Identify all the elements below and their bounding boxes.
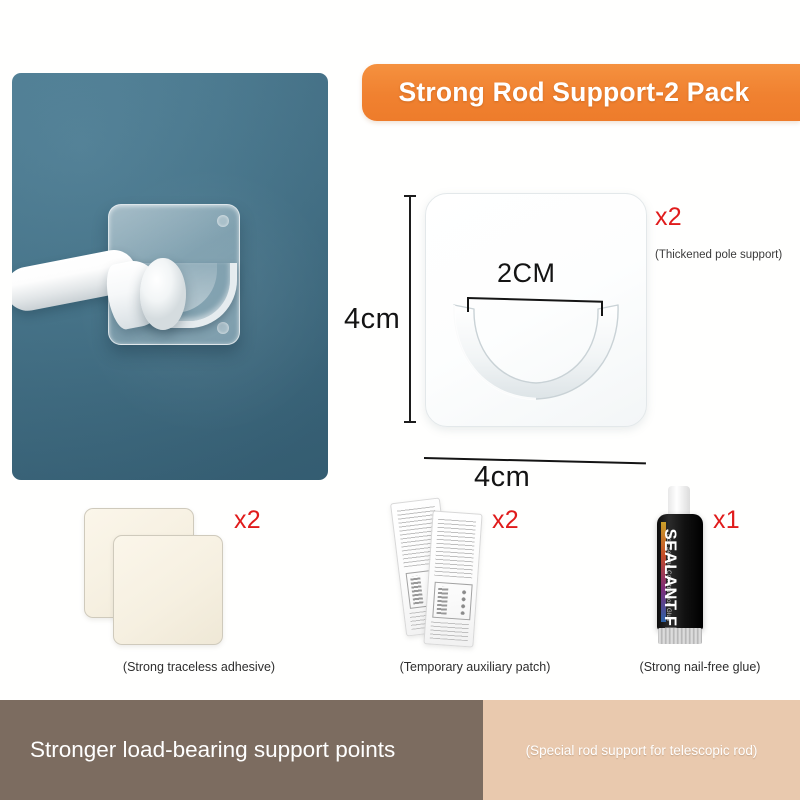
tube-crimp (658, 628, 702, 644)
footer-note-panel: (Special rod support for telescopic rod) (483, 700, 800, 800)
dimension-tick (601, 301, 603, 316)
patch-caption: (Temporary auxiliary patch) (350, 660, 600, 674)
adhesive-pad (113, 535, 223, 645)
footer-headline: Stronger load-bearing support points (0, 737, 395, 763)
patch-diagram (432, 582, 472, 621)
dimension-bar (424, 457, 646, 465)
footer: Stronger load-bearing support points (Sp… (0, 700, 800, 800)
lifestyle-photo (12, 73, 328, 480)
glue-qty-badge: x1 (713, 506, 740, 535)
bracket-caption: (Thickened pole support) (655, 249, 782, 261)
u-cradle-illustration (448, 301, 624, 403)
bracket-qty-badge: x2 (655, 203, 682, 232)
banner-title: Strong Rod Support-2 Pack (362, 64, 786, 121)
auxiliary-patch (423, 510, 482, 647)
footer-headline-panel: Stronger load-bearing support points (0, 700, 483, 800)
sealant-tube: Eco Sealing Construction Glue SEALANT FI… (657, 486, 703, 644)
height-dimension-label: 4cm (344, 303, 400, 336)
patch-qty-badge: x2 (492, 506, 519, 535)
title-banner: Strong Rod Support-2 Pack (362, 64, 800, 121)
patch-print-text (430, 621, 469, 642)
dimension-tick (467, 297, 469, 312)
tube-body: Eco Sealing Construction Glue SEALANT FI… (657, 514, 703, 630)
dimension-bar (467, 297, 603, 303)
width-dimension-line (424, 455, 646, 467)
width-dimension-label: 4cm (474, 461, 530, 494)
adhesive-caption: (Strong traceless adhesive) (84, 660, 314, 674)
glue-caption: (Strong nail-free glue) (600, 660, 800, 674)
inner-width-dimension-label: 2CM (497, 258, 556, 289)
bracket-dot-icon (217, 322, 229, 334)
patch-print-text (434, 518, 476, 579)
tube-brand-label: SEALANT FIX (647, 528, 693, 644)
footer-note: (Special rod support for telescopic rod) (526, 743, 758, 758)
height-dimension-line (409, 195, 411, 423)
adhesive-qty-badge: x2 (234, 506, 261, 535)
product-infographic: Strong Rod Support-2 Pack 4cm (0, 0, 800, 800)
bracket-dot-icon (217, 215, 229, 227)
rod-end-cap (140, 258, 186, 330)
inner-width-dimension-line (467, 291, 603, 311)
